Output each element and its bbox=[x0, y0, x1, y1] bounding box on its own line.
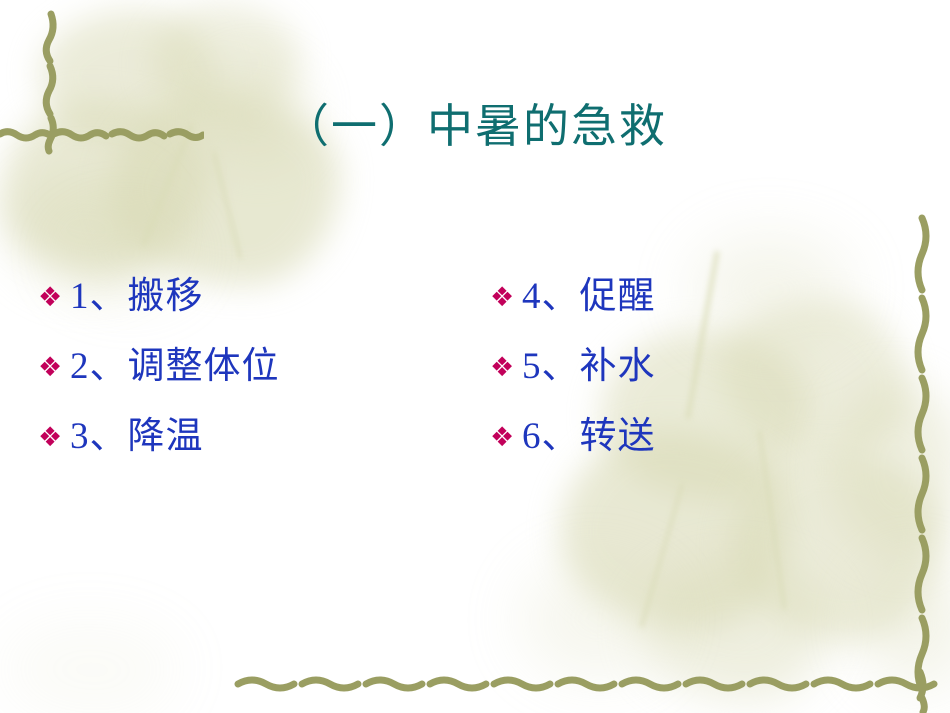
list-item-label: 3、降温 bbox=[70, 415, 204, 459]
diamond-bullet-icon: ❖ bbox=[38, 284, 70, 311]
bamboo-stalk-bottom-icon bbox=[232, 664, 950, 704]
list-item-label: 6、转送 bbox=[522, 415, 656, 459]
floral-stem bbox=[639, 482, 684, 627]
list-item[interactable]: ❖ 1、搬移 bbox=[38, 262, 280, 332]
diamond-bullet-icon: ❖ bbox=[490, 354, 522, 381]
slide-canvas: （一）中暑的急救 ❖ 1、搬移 ❖ 2、调整体位 ❖ 3、降温 ❖ 4、促醒 ❖ bbox=[0, 0, 950, 713]
list-item[interactable]: ❖ 5、补水 bbox=[490, 332, 656, 402]
list-item[interactable]: ❖ 3、降温 bbox=[38, 402, 280, 472]
floral-stem bbox=[212, 151, 242, 259]
floral-blob bbox=[730, 450, 940, 640]
diamond-bullet-icon: ❖ bbox=[490, 424, 522, 451]
list-item[interactable]: ❖ 2、调整体位 bbox=[38, 332, 280, 402]
floral-blob bbox=[0, 620, 180, 713]
slide-title: （一）中暑的急救 bbox=[0, 98, 950, 156]
floral-blob bbox=[860, 560, 950, 690]
list-item-label: 5、补水 bbox=[522, 345, 656, 389]
list-item-label: 1、搬移 bbox=[70, 275, 204, 319]
floral-blob bbox=[520, 560, 670, 680]
list-item[interactable]: ❖ 4、促醒 bbox=[490, 262, 656, 332]
bullet-list: ❖ 1、搬移 ❖ 2、调整体位 ❖ 3、降温 ❖ 4、促醒 ❖ 5、补水 ❖ bbox=[0, 262, 950, 462]
list-item-label: 4、促醒 bbox=[522, 275, 656, 319]
diamond-bullet-icon: ❖ bbox=[490, 284, 522, 311]
diamond-bullet-icon: ❖ bbox=[38, 354, 70, 381]
list-item[interactable]: ❖ 6、转送 bbox=[490, 402, 656, 472]
floral-blob bbox=[640, 560, 830, 700]
diamond-bullet-icon: ❖ bbox=[38, 424, 70, 451]
right-column: ❖ 4、促醒 ❖ 5、补水 ❖ 6、转送 bbox=[490, 262, 656, 472]
left-column: ❖ 1、搬移 ❖ 2、调整体位 ❖ 3、降温 bbox=[38, 262, 280, 472]
list-item-label: 2、调整体位 bbox=[70, 345, 280, 389]
